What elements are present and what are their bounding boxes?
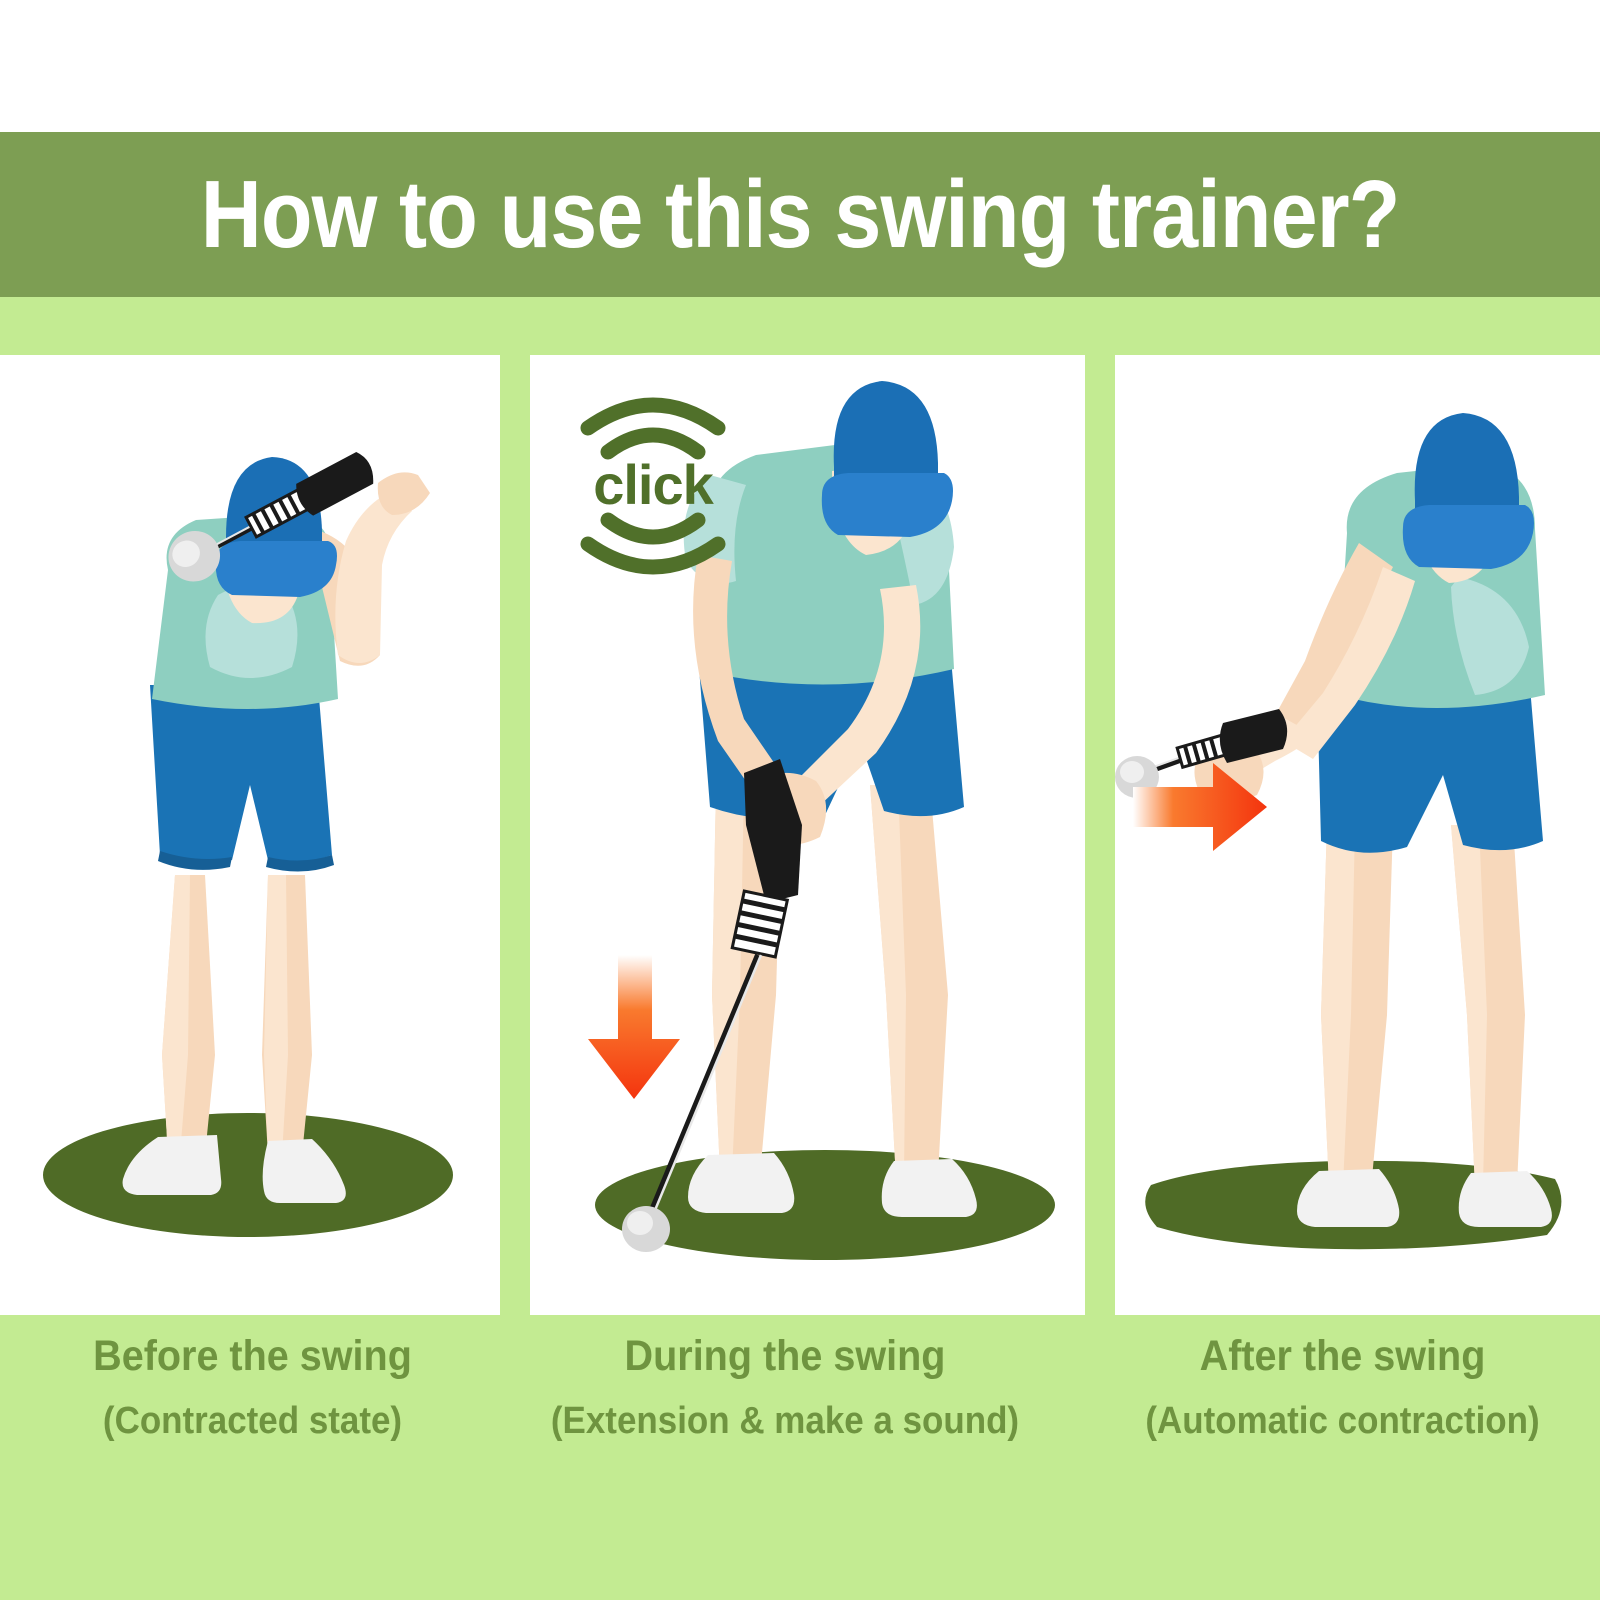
- front-shoe: [1297, 1169, 1399, 1227]
- caption-main-text: During the swing: [514, 1330, 1057, 1384]
- trainer-ball-highlight: [627, 1211, 653, 1235]
- caption-during-the-swing: During the swing (Extension & make a sou…: [490, 1330, 1080, 1445]
- golfer-backswing-illustration: [0, 355, 500, 1315]
- cap-brim: [1403, 505, 1534, 569]
- caption-sub-text: (Contracted state): [20, 1398, 485, 1446]
- page-title: How to use this swing trainer?: [201, 167, 1400, 263]
- trainer-ball-highlight: [1120, 761, 1144, 783]
- cap-brim: [216, 541, 337, 597]
- caption-main-text: Before the swing: [20, 1330, 485, 1384]
- sound-arc-top-outer: [588, 405, 718, 428]
- click-label: click: [578, 452, 728, 517]
- infographic-root: How to use this swing trainer?: [0, 0, 1600, 1600]
- golfer-followthrough-illustration: [1115, 355, 1600, 1315]
- trainer-grip: [292, 449, 379, 518]
- front-shoe: [688, 1153, 794, 1213]
- right-leg-shade: [264, 875, 288, 1155]
- cap-brim: [822, 473, 953, 537]
- caption-sub-text: (Extension & make a sound): [514, 1398, 1057, 1446]
- shorts: [150, 685, 332, 864]
- down-arrow-icon: [588, 955, 680, 1099]
- raised-arm-hand: [378, 472, 430, 515]
- panel-after-the-swing[interactable]: [1115, 355, 1600, 1315]
- caption-sub-text: (Automatic contraction): [1106, 1398, 1580, 1446]
- raised-arm-forearm: [335, 491, 412, 663]
- caption-main-text: After the swing: [1106, 1330, 1580, 1384]
- panel-before-the-swing[interactable]: [0, 355, 500, 1315]
- header-band: How to use this swing trainer?: [0, 132, 1600, 297]
- sound-arc-bottom-outer: [588, 544, 718, 567]
- grass-ellipse: [43, 1113, 453, 1237]
- sound-arc-top-inner: [608, 435, 698, 452]
- caption-after-the-swing: After the swing (Automatic contraction): [1085, 1330, 1600, 1445]
- click-sound-badge: click: [578, 390, 728, 580]
- caption-before-the-swing: Before the swing (Contracted state): [0, 1330, 505, 1445]
- sound-arc-bottom-inner: [608, 520, 698, 537]
